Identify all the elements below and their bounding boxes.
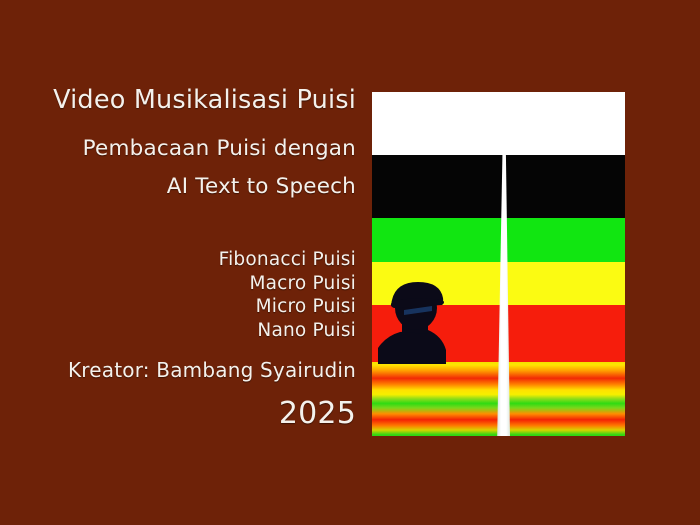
poem-type-list: Fibonacci Puisi Macro Puisi Micro Puisi … [219, 248, 356, 342]
video-thumbnail-panel [372, 92, 625, 436]
presentation-slide: Video Musikalisasi Puisi Pembacaan Puisi… [0, 0, 700, 525]
list-item: Fibonacci Puisi [219, 248, 356, 272]
list-item: Macro Puisi [219, 272, 356, 296]
page-title: Video Musikalisasi Puisi [53, 85, 356, 115]
year-label: 2025 [279, 396, 356, 432]
subtitle-line-2: AI Text to Speech [167, 174, 356, 200]
person-silhouette [376, 278, 454, 364]
slide-text-block: Video Musikalisasi Puisi Pembacaan Puisi… [0, 0, 356, 525]
creator-credit: Kreator: Bambang Syairudin [68, 358, 356, 383]
list-item: Micro Puisi [219, 295, 356, 319]
color-band-gradient [372, 362, 625, 436]
list-item: Nano Puisi [219, 319, 356, 343]
color-band-black [372, 155, 625, 218]
color-band-white [372, 92, 625, 155]
color-band-green [372, 218, 625, 262]
subtitle-line-1: Pembacaan Puisi dengan [83, 136, 356, 162]
